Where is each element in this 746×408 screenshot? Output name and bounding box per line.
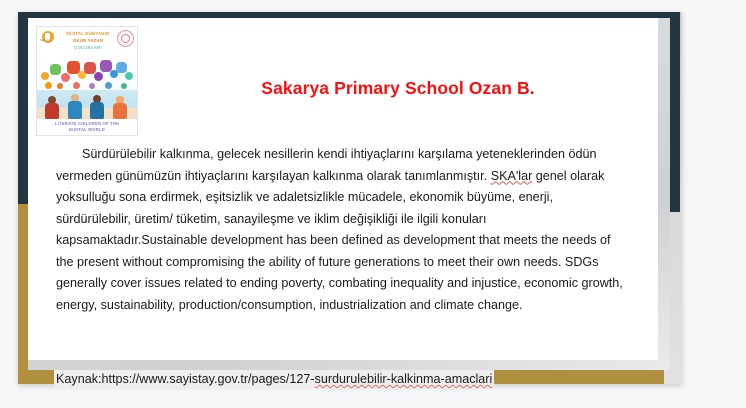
school-seal-icon xyxy=(117,30,134,47)
source-label: Kaynak:https://www.sayistay.gov.tr/pages… xyxy=(56,372,315,386)
body-paragraph: Sürdürülebilir kalkınma, gelecek nesille… xyxy=(56,144,631,316)
poster-title-line-2: OKUR YAZAR xyxy=(57,37,119,44)
poster-children-illustration xyxy=(37,90,137,120)
body-text-english: Sustainable development has been defined… xyxy=(56,233,623,312)
poster-child-4 xyxy=(112,96,128,120)
poster-child-1 xyxy=(44,96,60,120)
source-line: Kaynak:https://www.sayistay.gov.tr/pages… xyxy=(54,370,494,389)
slide-canvas: Twinning DİJİTAL DÜNYANIN OKUR YAZAR ÇOC… xyxy=(0,0,746,408)
poster-logo-label: Twinning xyxy=(37,39,53,42)
slide-headline: Sakarya Primary School Ozan B. xyxy=(148,78,648,99)
poster-title-line-3: ÇOCUKLARI xyxy=(57,44,119,51)
poster-footer-line-2: DIGITAL WORLD xyxy=(37,127,137,133)
slide-content-page: Twinning DİJİTAL DÜNYANIN OKUR YAZAR ÇOC… xyxy=(28,18,658,360)
poster-child-3 xyxy=(89,95,105,120)
body-text-turkish-highlight: SKA'lar xyxy=(491,169,533,183)
poster-header: Twinning DİJİTAL DÜNYANIN OKUR YAZAR ÇOC… xyxy=(37,27,137,60)
poster-child-2 xyxy=(67,94,83,120)
poster-title-line-1: DİJİTAL DÜNYANIN xyxy=(57,30,119,37)
digital-literacy-poster: Twinning DİJİTAL DÜNYANIN OKUR YAZAR ÇOC… xyxy=(36,26,138,136)
slide-body-text: Sürdürülebilir kalkınma, gelecek nesille… xyxy=(56,144,631,316)
source-slug: surdurulebilir-kalkinma-amaclari xyxy=(315,372,493,386)
poster-title: DİJİTAL DÜNYANIN OKUR YAZAR ÇOCUKLARI xyxy=(57,30,119,51)
poster-footer: LITERATE CHILDREN OF THE DIGITAL WORLD xyxy=(37,119,137,135)
poster-icon-cluster xyxy=(37,58,137,94)
